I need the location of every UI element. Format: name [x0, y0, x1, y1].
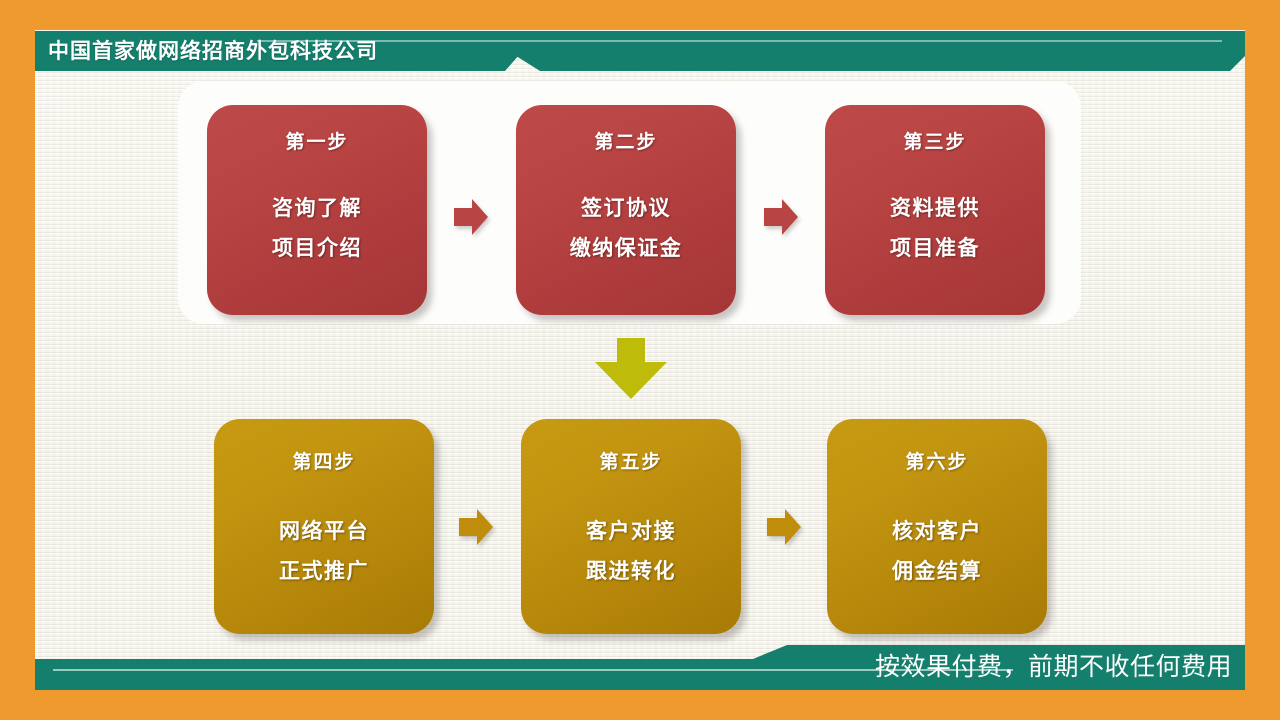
step-title: 第六步	[905, 449, 968, 475]
step-title: 第四步	[292, 449, 355, 475]
arrow-right-icon	[762, 195, 800, 239]
step-body: 咨询了解 项目介绍	[272, 195, 362, 262]
arrow-right-icon	[765, 505, 803, 549]
step-body: 核对客户 佣金结算	[892, 518, 982, 585]
step-line-1: 资料提供	[890, 195, 980, 222]
step-line-2: 项目准备	[890, 235, 980, 262]
step-line-2: 缴纳保证金	[570, 235, 683, 262]
arrow-right-icon	[452, 195, 490, 239]
header-title: 中国首家做网络招商外包科技公司	[48, 37, 378, 65]
step-line-2: 佣金结算	[892, 558, 982, 585]
flow-step-box-4[interactable]: 第四步 网络平台 正式推广	[214, 419, 434, 634]
flow-step-box-2[interactable]: 第二步 签订协议 缴纳保证金	[516, 105, 736, 315]
step-line-2: 项目介绍	[272, 235, 362, 262]
step-title: 第三步	[903, 129, 966, 155]
step-line-1: 网络平台	[279, 518, 369, 545]
step-body: 客户对接 跟进转化	[586, 518, 676, 585]
flow-step-box-6[interactable]: 第六步 核对客户 佣金结算	[827, 419, 1047, 634]
footer-tagline: 按效果付费，前期不收任何费用	[875, 650, 1232, 684]
flow-step-box-5[interactable]: 第五步 客户对接 跟进转化	[521, 419, 741, 634]
step-body: 网络平台 正式推广	[279, 518, 369, 585]
step-title: 第一步	[285, 129, 348, 155]
step-line-1: 核对客户	[892, 518, 982, 545]
step-title: 第二步	[594, 129, 657, 155]
step-line-2: 跟进转化	[586, 558, 676, 585]
step-line-1: 咨询了解	[272, 195, 362, 222]
arrow-down-icon	[594, 338, 668, 400]
step-line-2: 正式推广	[279, 558, 369, 585]
step-line-1: 签订协议	[581, 195, 671, 222]
arrow-right-icon	[457, 505, 495, 549]
flow-step-box-1[interactable]: 第一步 咨询了解 项目介绍	[207, 105, 427, 315]
flow-step-box-3[interactable]: 第三步 资料提供 项目准备	[825, 105, 1045, 315]
slide-root: 中国首家做网络招商外包科技公司 第一步 咨询了解 项目介绍 第二步 签订协议 缴…	[0, 0, 1280, 720]
step-body: 签订协议 缴纳保证金	[570, 195, 683, 262]
step-line-1: 客户对接	[586, 518, 676, 545]
step-title: 第五步	[599, 449, 662, 475]
step-body: 资料提供 项目准备	[890, 195, 980, 262]
